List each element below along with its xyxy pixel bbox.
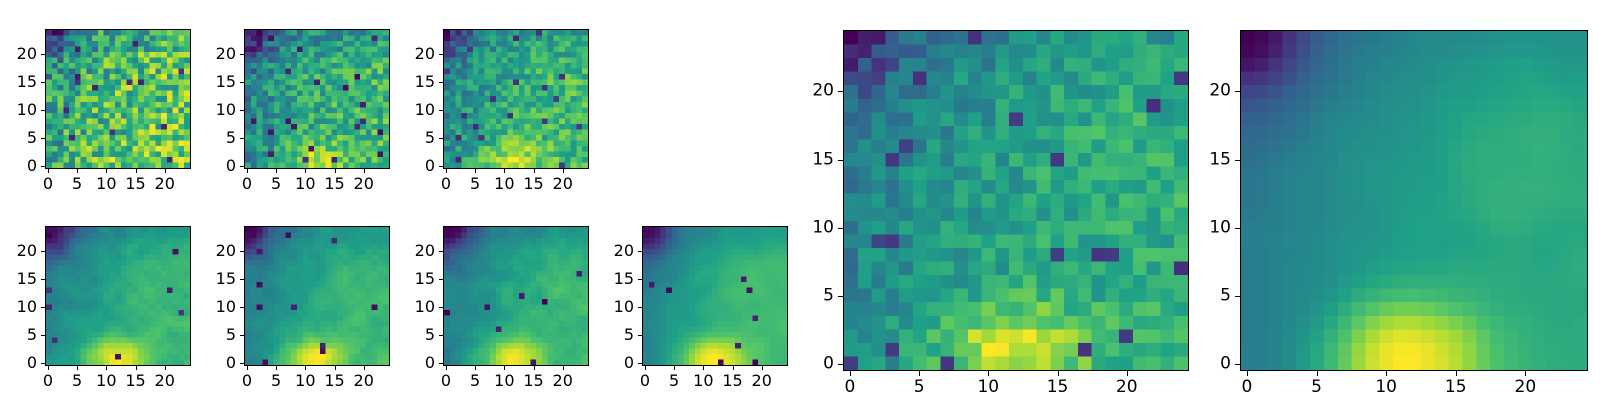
- y-tick-mark: [838, 228, 843, 229]
- y-tick-mark: [240, 54, 244, 55]
- x-tick-label: 0: [640, 373, 650, 389]
- x-tick-mark: [733, 366, 734, 370]
- y-tick-label: 20: [216, 243, 236, 259]
- y-tick-label: 20: [216, 46, 236, 62]
- y-tick-mark: [1235, 228, 1240, 229]
- x-tick-mark: [504, 366, 505, 370]
- heatmap-image: [843, 30, 1189, 371]
- y-tick-label: 10: [216, 299, 236, 315]
- x-tick-label: 15: [324, 373, 344, 389]
- y-tick-mark: [638, 279, 642, 280]
- y-tick-mark: [838, 364, 843, 365]
- x-tick-mark: [534, 169, 535, 173]
- y-tick-label: 10: [17, 299, 37, 315]
- heatmap-panel-f160w: 0510152005101520: [642, 226, 788, 366]
- y-tick-label: 5: [226, 130, 236, 146]
- y-tick-label: 15: [216, 74, 236, 90]
- x-tick-mark: [703, 366, 704, 370]
- figure-canvas: 0510152005101520051015200510152005101520…: [0, 0, 1600, 400]
- heatmap-panel-f125w: 0510152005101520: [244, 226, 390, 366]
- y-tick-label: 15: [415, 74, 435, 90]
- heatmap-pixels: [643, 227, 787, 365]
- y-tick-label: 10: [415, 102, 435, 118]
- y-tick-label: 0: [1220, 356, 1231, 373]
- y-tick-label: 15: [1209, 151, 1231, 168]
- heatmap-panel-wfc3-ir-total: 0510152005101520: [1240, 30, 1588, 371]
- x-tick-label: 15: [324, 176, 344, 192]
- y-tick-label: 5: [823, 287, 834, 304]
- x-tick-mark: [475, 366, 476, 370]
- heatmap-pixels: [46, 227, 190, 365]
- heatmap-pixels: [1241, 31, 1587, 370]
- x-tick-mark: [645, 366, 646, 370]
- x-tick-mark: [1456, 371, 1457, 376]
- y-tick-mark: [41, 279, 45, 280]
- x-tick-mark: [563, 366, 564, 370]
- y-tick-mark: [41, 110, 45, 111]
- x-tick-mark: [165, 169, 166, 173]
- x-tick-label: 15: [125, 373, 145, 389]
- y-tick-mark: [41, 363, 45, 364]
- x-tick-label: 10: [1375, 379, 1397, 396]
- x-tick-label: 15: [523, 373, 543, 389]
- y-tick-mark: [41, 251, 45, 252]
- x-tick-mark: [276, 169, 277, 173]
- y-tick-label: 15: [17, 271, 37, 287]
- x-tick-mark: [446, 366, 447, 370]
- y-tick-label: 10: [415, 299, 435, 315]
- y-tick-mark: [240, 82, 244, 83]
- x-tick-label: 0: [242, 176, 252, 192]
- x-tick-mark: [165, 366, 166, 370]
- x-tick-label: 5: [1311, 379, 1322, 396]
- y-tick-label: 20: [614, 243, 634, 259]
- y-tick-label: 15: [812, 151, 834, 168]
- x-tick-mark: [335, 169, 336, 173]
- x-tick-mark: [504, 169, 505, 173]
- y-tick-label: 10: [1209, 219, 1231, 236]
- y-tick-label: 0: [425, 158, 435, 174]
- y-tick-label: 5: [425, 327, 435, 343]
- x-tick-mark: [1525, 371, 1526, 376]
- y-tick-label: 10: [812, 219, 834, 236]
- y-tick-label: 20: [17, 46, 37, 62]
- x-tick-label: 5: [271, 176, 281, 192]
- y-tick-mark: [838, 296, 843, 297]
- x-tick-label: 0: [441, 373, 451, 389]
- heatmap-panel-f105w: 0510152005101520: [45, 226, 191, 366]
- x-tick-mark: [475, 169, 476, 173]
- x-tick-label: 20: [752, 373, 772, 389]
- x-tick-mark: [77, 366, 78, 370]
- x-tick-mark: [335, 366, 336, 370]
- y-tick-mark: [838, 91, 843, 92]
- y-tick-label: 0: [27, 355, 37, 371]
- x-tick-label: 15: [523, 176, 543, 192]
- y-tick-mark: [838, 160, 843, 161]
- x-tick-label: 5: [669, 373, 679, 389]
- y-tick-label: 0: [226, 158, 236, 174]
- y-tick-mark: [439, 363, 443, 364]
- x-tick-label: 15: [1047, 379, 1069, 396]
- y-tick-mark: [240, 166, 244, 167]
- y-tick-mark: [439, 307, 443, 308]
- x-tick-label: 5: [914, 379, 925, 396]
- y-tick-mark: [439, 251, 443, 252]
- heatmap-image: [642, 226, 788, 366]
- y-tick-label: 0: [226, 355, 236, 371]
- x-tick-label: 20: [1515, 379, 1537, 396]
- y-tick-mark: [439, 54, 443, 55]
- x-tick-mark: [534, 366, 535, 370]
- x-tick-mark: [1247, 371, 1248, 376]
- y-tick-mark: [240, 307, 244, 308]
- heatmap-pixels: [245, 30, 389, 168]
- heatmap-pixels: [245, 227, 389, 365]
- x-tick-label: 10: [977, 379, 999, 396]
- heatmap-pixels: [46, 30, 190, 168]
- y-tick-label: 20: [1209, 83, 1231, 100]
- y-tick-label: 0: [27, 158, 37, 174]
- x-tick-mark: [1386, 371, 1387, 376]
- y-tick-label: 5: [27, 130, 37, 146]
- x-tick-label: 10: [96, 176, 116, 192]
- y-tick-mark: [638, 251, 642, 252]
- y-tick-mark: [41, 166, 45, 167]
- y-tick-mark: [1235, 364, 1240, 365]
- x-tick-label: 20: [354, 373, 374, 389]
- y-tick-mark: [240, 251, 244, 252]
- x-tick-label: 0: [844, 379, 855, 396]
- x-tick-mark: [247, 169, 248, 173]
- y-tick-mark: [240, 279, 244, 280]
- y-tick-mark: [41, 82, 45, 83]
- y-tick-label: 10: [17, 102, 37, 118]
- y-tick-mark: [638, 307, 642, 308]
- x-tick-mark: [276, 366, 277, 370]
- y-tick-mark: [240, 363, 244, 364]
- x-tick-mark: [48, 169, 49, 173]
- y-tick-mark: [1235, 91, 1240, 92]
- x-tick-label: 20: [1116, 379, 1138, 396]
- y-tick-label: 0: [823, 356, 834, 373]
- x-tick-mark: [305, 169, 306, 173]
- heatmap-panel-f814w: 0510152005101520: [443, 29, 589, 169]
- x-tick-label: 15: [722, 373, 742, 389]
- x-tick-mark: [136, 366, 137, 370]
- x-tick-label: 10: [494, 176, 514, 192]
- y-tick-label: 0: [624, 355, 634, 371]
- heatmap-image: [1240, 30, 1588, 371]
- x-tick-label: 5: [271, 373, 281, 389]
- x-tick-mark: [247, 366, 248, 370]
- x-tick-label: 10: [96, 373, 116, 389]
- y-tick-mark: [638, 335, 642, 336]
- x-tick-mark: [364, 169, 365, 173]
- x-tick-label: 0: [242, 373, 252, 389]
- y-tick-label: 15: [614, 271, 634, 287]
- x-tick-label: 20: [155, 176, 175, 192]
- heatmap-image: [244, 226, 390, 366]
- x-tick-label: 0: [43, 176, 53, 192]
- x-tick-mark: [850, 371, 851, 376]
- y-tick-mark: [439, 138, 443, 139]
- x-tick-label: 5: [72, 373, 82, 389]
- x-tick-label: 20: [155, 373, 175, 389]
- y-tick-mark: [1235, 160, 1240, 161]
- y-tick-mark: [638, 363, 642, 364]
- x-tick-mark: [988, 371, 989, 376]
- heatmap-panel-f606w: 0510152005101520: [244, 29, 390, 169]
- y-tick-label: 5: [27, 327, 37, 343]
- y-tick-mark: [1235, 296, 1240, 297]
- x-tick-label: 20: [553, 373, 573, 389]
- y-tick-mark: [240, 335, 244, 336]
- x-tick-label: 5: [470, 176, 480, 192]
- y-tick-label: 20: [812, 83, 834, 100]
- x-tick-mark: [48, 366, 49, 370]
- x-tick-label: 20: [354, 176, 374, 192]
- x-tick-label: 20: [553, 176, 573, 192]
- y-tick-mark: [41, 307, 45, 308]
- x-tick-label: 5: [72, 176, 82, 192]
- x-tick-mark: [364, 366, 365, 370]
- x-tick-mark: [446, 169, 447, 173]
- x-tick-mark: [106, 366, 107, 370]
- x-tick-label: 10: [494, 373, 514, 389]
- x-tick-mark: [77, 169, 78, 173]
- heatmap-panel-acs-total: 0510152005101520: [843, 30, 1189, 371]
- x-tick-label: 0: [1242, 379, 1253, 396]
- y-tick-mark: [439, 110, 443, 111]
- y-tick-mark: [41, 138, 45, 139]
- x-tick-mark: [762, 366, 763, 370]
- x-tick-label: 5: [470, 373, 480, 389]
- x-tick-mark: [106, 169, 107, 173]
- x-tick-mark: [305, 366, 306, 370]
- x-tick-label: 10: [693, 373, 713, 389]
- y-tick-label: 0: [425, 355, 435, 371]
- y-tick-mark: [240, 110, 244, 111]
- y-tick-mark: [240, 138, 244, 139]
- y-tick-mark: [41, 54, 45, 55]
- x-tick-mark: [674, 366, 675, 370]
- x-tick-label: 0: [43, 373, 53, 389]
- heatmap-pixels: [444, 30, 588, 168]
- x-tick-label: 10: [295, 373, 315, 389]
- heatmap-image: [443, 226, 589, 366]
- heatmap-panel-f140w: 0510152005101520: [443, 226, 589, 366]
- x-tick-label: 15: [125, 176, 145, 192]
- y-tick-label: 20: [17, 243, 37, 259]
- y-tick-mark: [439, 335, 443, 336]
- y-tick-mark: [439, 279, 443, 280]
- x-tick-mark: [563, 169, 564, 173]
- x-tick-mark: [136, 169, 137, 173]
- heatmap-image: [45, 226, 191, 366]
- x-tick-label: 0: [441, 176, 451, 192]
- y-tick-label: 20: [415, 243, 435, 259]
- y-tick-mark: [439, 82, 443, 83]
- y-tick-mark: [41, 335, 45, 336]
- y-tick-label: 5: [624, 327, 634, 343]
- y-tick-label: 15: [415, 271, 435, 287]
- x-tick-mark: [1058, 371, 1059, 376]
- x-tick-mark: [1317, 371, 1318, 376]
- heatmap-panel-f435w: 0510152005101520: [45, 29, 191, 169]
- y-tick-mark: [439, 166, 443, 167]
- y-tick-label: 15: [17, 74, 37, 90]
- heatmap-image: [443, 29, 589, 169]
- y-tick-label: 5: [425, 130, 435, 146]
- heatmap-pixels: [844, 31, 1188, 370]
- y-tick-label: 5: [1220, 287, 1231, 304]
- y-tick-label: 10: [216, 102, 236, 118]
- x-tick-mark: [1127, 371, 1128, 376]
- y-tick-label: 5: [226, 327, 236, 343]
- y-tick-label: 15: [216, 271, 236, 287]
- heatmap-image: [45, 29, 191, 169]
- y-tick-label: 20: [415, 46, 435, 62]
- heatmap-image: [244, 29, 390, 169]
- heatmap-pixels: [444, 227, 588, 365]
- x-tick-label: 10: [295, 176, 315, 192]
- x-tick-mark: [919, 371, 920, 376]
- x-tick-label: 15: [1445, 379, 1467, 396]
- y-tick-label: 10: [614, 299, 634, 315]
